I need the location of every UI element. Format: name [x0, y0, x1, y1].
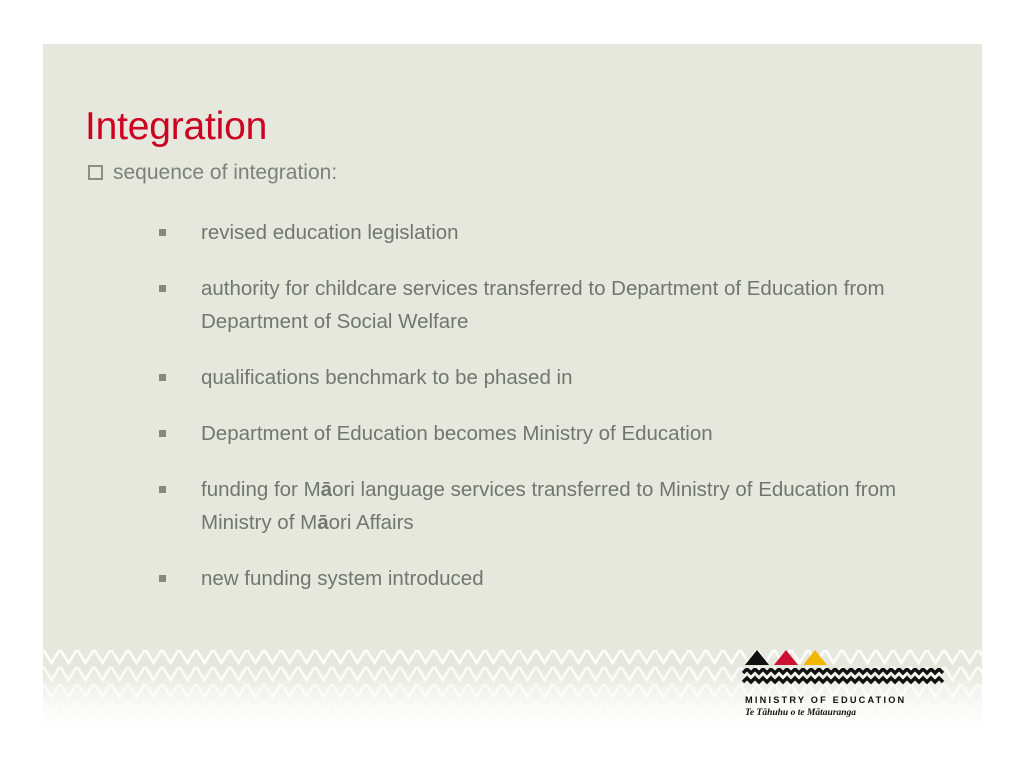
- square-bullet-icon: [159, 430, 166, 437]
- list-item-label: revised education legislation: [201, 216, 965, 249]
- triangle-red-icon: [774, 650, 798, 665]
- list-item-label: new funding system introduced: [201, 562, 965, 595]
- hollow-square-bullet-icon: [88, 165, 103, 180]
- wave-lines-icon: [740, 668, 955, 685]
- list-item-label: Department of Education becomes Ministry…: [201, 417, 965, 450]
- triangle-yellow-icon: [803, 650, 827, 665]
- list-item-label: qualifications benchmark to be phased in: [201, 361, 965, 394]
- square-bullet-icon: [159, 575, 166, 582]
- lead-bullet-label: sequence of integration:: [113, 161, 337, 184]
- logo-triangles: [745, 650, 955, 665]
- list-item: authority for childcare services transfe…: [155, 272, 965, 338]
- logo-name: MINISTRY OF EDUCATION: [745, 695, 955, 705]
- list-item: qualifications benchmark to be phased in: [155, 361, 965, 394]
- list-item: revised education legislation: [155, 216, 965, 249]
- lead-bullet-item: sequence of integration:: [88, 159, 337, 187]
- list-item: Department of Education becomes Ministry…: [155, 417, 965, 450]
- list-item-label: authority for childcare services transfe…: [201, 272, 965, 338]
- list-item: funding for Māori language services tran…: [155, 473, 965, 539]
- ministry-of-education-logo: MINISTRY OF EDUCATION Te Tāhuhu o te Māt…: [740, 650, 955, 718]
- page-title: Integration: [85, 105, 267, 149]
- logo-waves: [740, 668, 955, 690]
- bullet-list: revised education legislation authority …: [155, 216, 965, 618]
- square-bullet-icon: [159, 229, 166, 236]
- list-item: new funding system introduced: [155, 562, 965, 595]
- square-bullet-icon: [159, 486, 166, 493]
- square-bullet-icon: [159, 374, 166, 381]
- slide-canvas: Integration sequence of integration: rev…: [43, 44, 982, 724]
- list-item-label: funding for Māori language services tran…: [201, 473, 965, 539]
- logo-tagline: Te Tāhuhu o te Mātauranga: [745, 708, 955, 718]
- square-bullet-icon: [159, 285, 166, 292]
- triangle-black-icon: [745, 650, 769, 665]
